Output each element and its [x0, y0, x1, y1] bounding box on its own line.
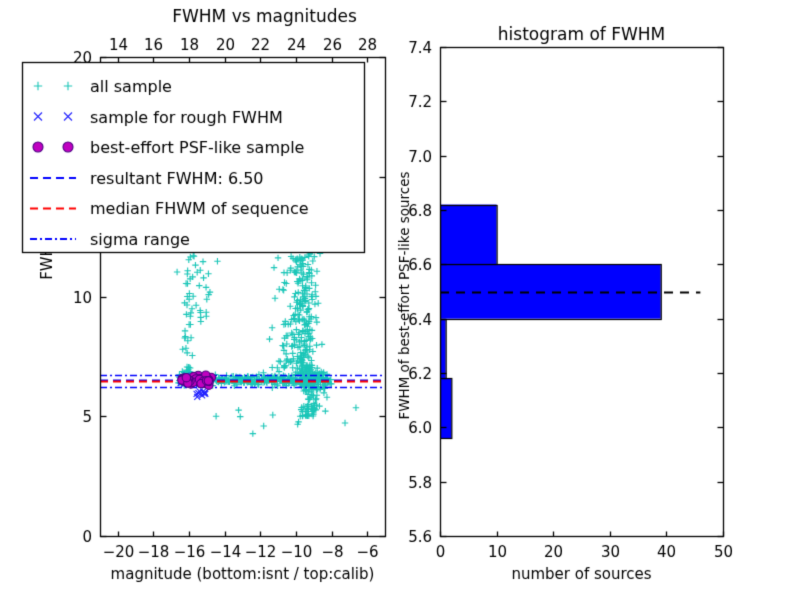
left-panel-xlabel: magnitude (bottom:isnt / top:calib) [98, 566, 362, 581]
right-axes-region[interactable] [440, 47, 723, 536]
figure-canvas-container: FWHM vs magnitudes magnitude (bottom:isn… [0, 0, 800, 600]
left-panel-title: FWHM vs magnitudes [118, 8, 303, 25]
right-panel-xlabel: number of sources [505, 566, 645, 581]
right-panel-title: histogram of FWHM [478, 30, 645, 47]
legend-box[interactable] [22, 62, 362, 252]
